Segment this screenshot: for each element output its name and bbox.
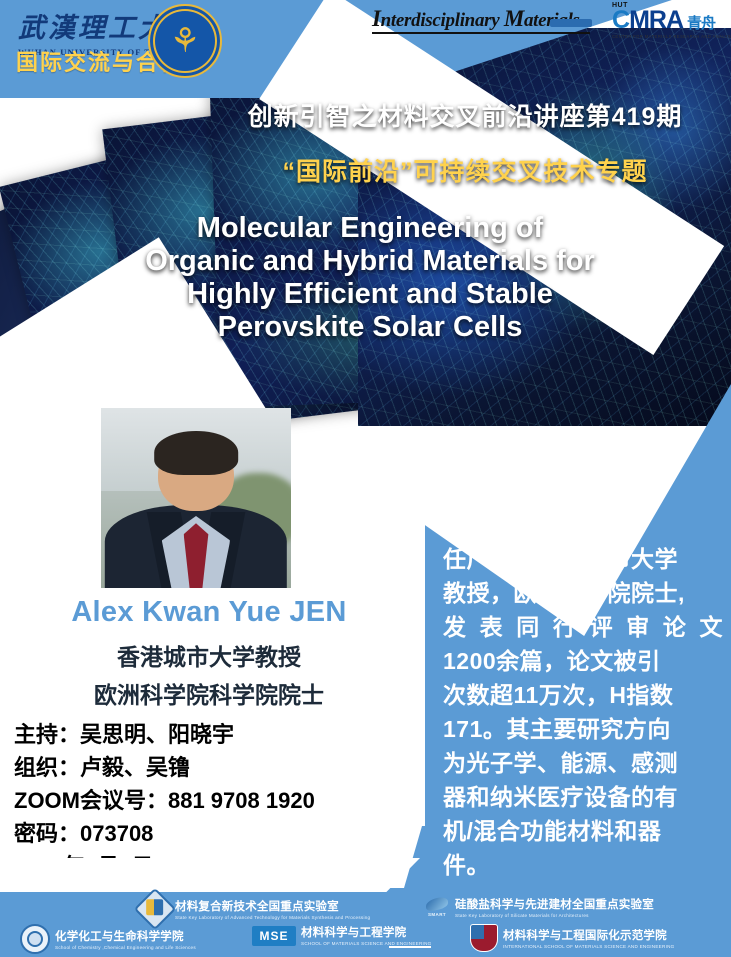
seal-glyph: ⚘: [170, 24, 200, 58]
university-seal-icon: ⚘: [148, 4, 222, 78]
chemistry-text: 化学化工与生命科学学院 School of Chemistry ,Chemica…: [55, 928, 196, 950]
bio-line-10: 件。: [443, 848, 723, 882]
ismse-name-en: INTERNATIONAL SCHOOL OF MATERIALS SCIENC…: [503, 944, 674, 949]
bio-line-3: 发表同行评审论文: [443, 610, 723, 644]
speaker-name: Alex Kwan Yue JEN: [14, 596, 404, 629]
bio-line-7: 为光子学、能源、感测: [443, 746, 723, 780]
meeting-organizer: 组织：卢毅、吴镥: [14, 751, 414, 784]
cmra-wordmark: CMRA青舟: [612, 9, 730, 33]
bio-line-3-char: 同: [516, 610, 540, 644]
footer-band: 材料复合新技术全国重点实验室 State Key Laboratory of A…: [0, 888, 731, 957]
mse-text: 材料科学与工程学院 SCHOOL OF MATERIALS SCIENCE AN…: [301, 924, 431, 948]
smart-mark-label: SMART: [428, 912, 446, 917]
skl-text: 材料复合新技术全国重点实验室 State Key Laboratory of A…: [175, 898, 370, 920]
speaker-bio-text: 任广禺是香港城市大学 教授，欧洲科学院院士, 发表同行评审论文 1200余篇，论…: [443, 542, 723, 882]
bio-line-3-char: 论: [663, 610, 687, 644]
bio-line-3-char: 行: [553, 610, 577, 644]
chemistry-mark-icon: [20, 924, 50, 954]
zoom-password: 密码：073708: [14, 817, 414, 850]
footer-notch: [0, 858, 420, 892]
bio-line-3-char: 审: [626, 610, 650, 644]
journal-word-1: nterdisciplinary: [381, 10, 504, 31]
bio-line-6: 171。其主要研究方向: [443, 712, 723, 746]
smart-text: 硅酸盐科学与先进建材全国重点实验室 State Key Laboratory o…: [455, 896, 654, 918]
skl-name-en: State Key Laboratory of Advanced Technol…: [175, 915, 370, 920]
interdisciplinary-materials-logo: Interdisciplinary Materials: [372, 6, 602, 40]
bio-line-5: 次数超11万次，H指数: [443, 678, 723, 712]
smart-name-en: State Key Laboratory of Silicate Materia…: [455, 913, 654, 918]
cmra-rest: MRA: [629, 6, 683, 34]
bio-line-3-char: 表: [480, 610, 504, 644]
bio-line-8: 器和纳米医疗设备的有: [443, 780, 723, 814]
mse-underline: [389, 946, 431, 948]
title-line-2: Organic and Hybrid Materials for: [40, 245, 700, 278]
photo-hair: [154, 431, 238, 474]
meeting-host: 主持：吴思明、阳晓宇: [14, 718, 414, 751]
bio-line-9: 机/混合功能材料和器: [443, 814, 723, 848]
speaker-photo: [101, 408, 291, 588]
seminar-poster: 武漢理工大學 WUHAN UNIVERSITY OF TECHNOLOGY 国际…: [0, 0, 731, 957]
ismse-name-cn: 材料科学与工程国际化示范学院: [503, 927, 674, 943]
title-line-1: Molecular Engineering of: [40, 212, 700, 245]
bio-line-3-char: 文: [699, 610, 723, 644]
bio-line-3-char: 发: [443, 610, 467, 644]
smart-name-cn: 硅酸盐科学与先进建材全国重点实验室: [455, 896, 654, 912]
speaker-academy-title: 欧洲科学院科学院院士: [14, 676, 404, 710]
mse-mark-label: MSE: [259, 929, 288, 943]
title-line-3: Highly Efficient and Stable: [40, 278, 700, 311]
speaker-affiliation: 香港城市大学教授: [14, 638, 404, 672]
cmra-logo: HUT CMRA青舟 CENTER FOR MATERIALS RESEARCH…: [612, 2, 730, 40]
bio-line-1: 任广禺是香港城市大学: [443, 542, 723, 576]
bio-line-2: 教授，欧洲科学院院士,: [443, 576, 723, 610]
mse-name-cn: 材料科学与工程学院: [301, 924, 431, 940]
zoom-meeting-id: ZOOM会议号：881 9708 1920: [14, 784, 414, 817]
cmra-initial: C: [612, 6, 629, 34]
skl-name-cn: 材料复合新技术全国重点实验室: [175, 898, 370, 914]
open-access-badge-icon: [550, 19, 592, 27]
mse-mark-icon: MSE: [252, 926, 296, 946]
chemistry-name-en: School of Chemistry ,Chemical Engineerin…: [55, 945, 196, 950]
cmra-subtitle: CENTER FOR MATERIALS RESEARCH AND ANALYS…: [612, 34, 730, 39]
journal-initial-m: M: [504, 6, 524, 31]
footer-logo-chemistry: 化学化工与生命科学学院 School of Chemistry ,Chemica…: [20, 924, 196, 954]
bio-line-3-char: 评: [590, 610, 614, 644]
topic-title-cn: “国际前沿”可持续交叉技术专题: [215, 152, 715, 188]
ismse-shield-icon: [470, 924, 498, 952]
footer-logo-ismse: 材料科学与工程国际化示范学院 INTERNATIONAL SCHOOL OF M…: [470, 924, 674, 952]
lecture-title-en: Molecular Engineering of Organic and Hyb…: [40, 212, 700, 344]
series-title-cn: 创新引智之材料交叉前沿讲座第419期: [215, 97, 715, 133]
journal-initial-i: I: [372, 6, 381, 31]
footer-logo-smart: SMART 硅酸盐科学与先进建材全国重点实验室 State Key Labora…: [424, 894, 654, 920]
footer-logo-mse: MSE 材料科学与工程学院 SCHOOL OF MATERIALS SCIENC…: [252, 924, 431, 948]
footer-logo-skl: 材料复合新技术全国重点实验室 State Key Laboratory of A…: [140, 894, 370, 924]
cmra-name-cn: 青舟: [687, 15, 715, 32]
smart-mark-icon: SMART: [424, 894, 450, 920]
bio-line-4: 1200余篇，论文被引: [443, 644, 723, 678]
chemistry-name-cn: 化学化工与生命科学学院: [55, 928, 196, 944]
ismse-text: 材料科学与工程国际化示范学院 INTERNATIONAL SCHOOL OF M…: [503, 927, 674, 949]
title-line-4: Perovskite Solar Cells: [40, 311, 700, 344]
